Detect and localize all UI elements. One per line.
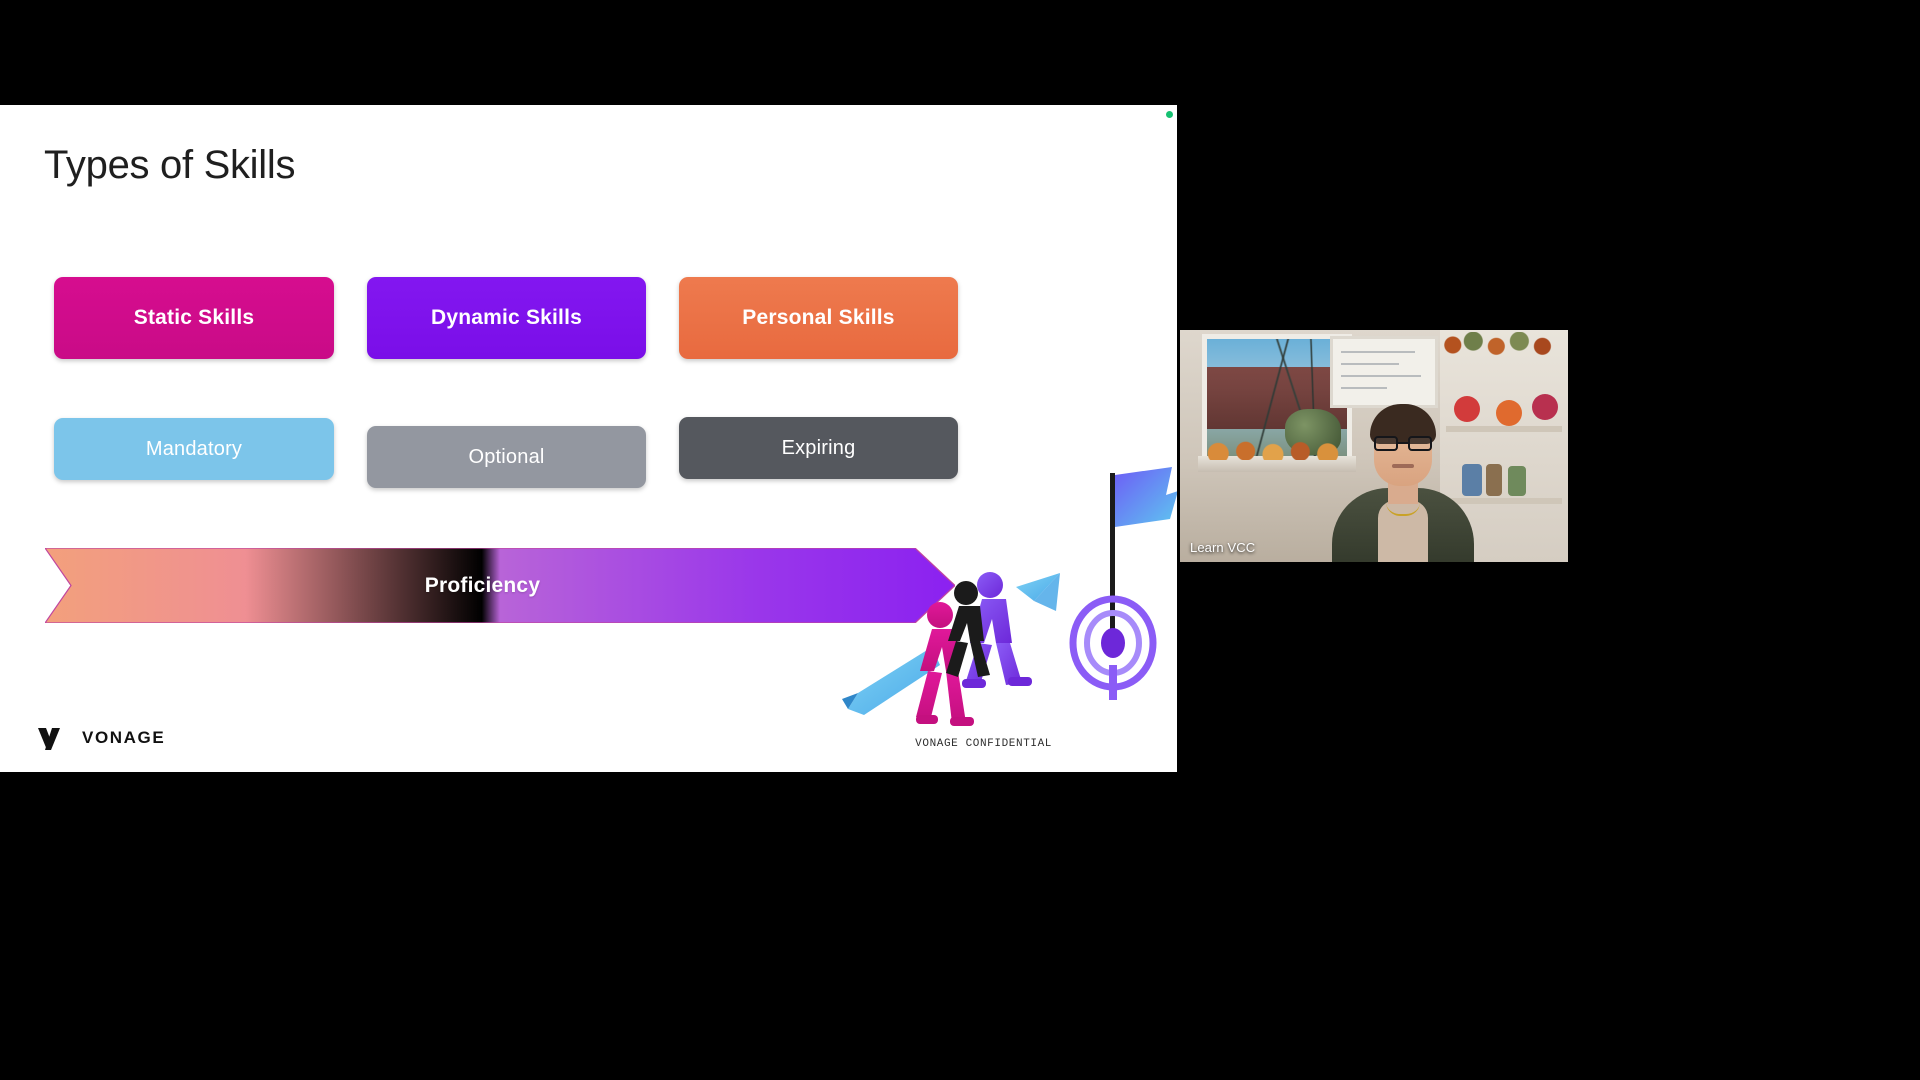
book-brown <box>1486 464 1502 496</box>
skill-pill-dynamic-label: Dynamic Skills <box>431 306 582 330</box>
participant-person <box>1330 392 1476 562</box>
vonage-logo: VONAGE <box>36 726 165 750</box>
plush-toy-pink <box>1532 394 1558 420</box>
skill-pill-static-label: Static Skills <box>134 306 255 330</box>
proficiency-arrow-banner: Proficiency <box>45 548 955 623</box>
confidentiality-notice: VONAGE CONFIDENTIAL <box>915 738 1052 750</box>
paper-plane-icon <box>1016 573 1060 611</box>
skill-pill-mandatory-label: Mandatory <box>146 438 242 461</box>
mouth <box>1392 464 1414 468</box>
page-title: Types of Skills <box>44 143 295 188</box>
runner-figure-purple <box>962 572 1032 688</box>
skill-pill-personal-label: Personal Skills <box>742 306 894 330</box>
skill-attribute-row: Mandatory Optional Expiring <box>54 418 991 488</box>
skill-pill-mandatory[interactable]: Mandatory <box>54 418 334 480</box>
participant-name-label: Learn VCC <box>1190 540 1255 555</box>
plush-toy-orange <box>1496 400 1522 426</box>
book-green <box>1508 466 1526 496</box>
video-frame <box>1180 330 1568 562</box>
vonage-mark-icon <box>36 726 72 750</box>
skill-pill-expiring-label: Expiring <box>782 437 856 460</box>
screen-share-stage: Types of Skills Static Skills Dynamic Sk… <box>0 0 1920 1080</box>
skill-pill-expiring[interactable]: Expiring <box>679 417 958 479</box>
glasses-icon <box>1374 436 1432 451</box>
proficiency-label: Proficiency <box>45 548 955 623</box>
skill-pill-dynamic[interactable]: Dynamic Skills <box>367 277 646 359</box>
shared-slide[interactable]: Types of Skills Static Skills Dynamic Sk… <box>0 105 1177 772</box>
skill-category-row: Static Skills Dynamic Skills Personal Sk… <box>54 277 991 359</box>
target-icon <box>1073 599 1153 700</box>
participant-video-tile[interactable]: Learn VCC <box>1180 330 1568 562</box>
skill-pill-optional[interactable]: Optional <box>367 426 646 488</box>
skill-pill-static[interactable]: Static Skills <box>54 277 334 359</box>
autumn-garland <box>1440 332 1568 358</box>
flag-icon <box>1110 467 1177 643</box>
vonage-wordmark: VONAGE <box>82 728 165 748</box>
rocket-icon <box>842 647 940 715</box>
skill-pill-personal[interactable]: Personal Skills <box>679 277 958 359</box>
skill-pill-optional-label: Optional <box>468 446 544 469</box>
screen-share-indicator-dot <box>1166 111 1173 118</box>
